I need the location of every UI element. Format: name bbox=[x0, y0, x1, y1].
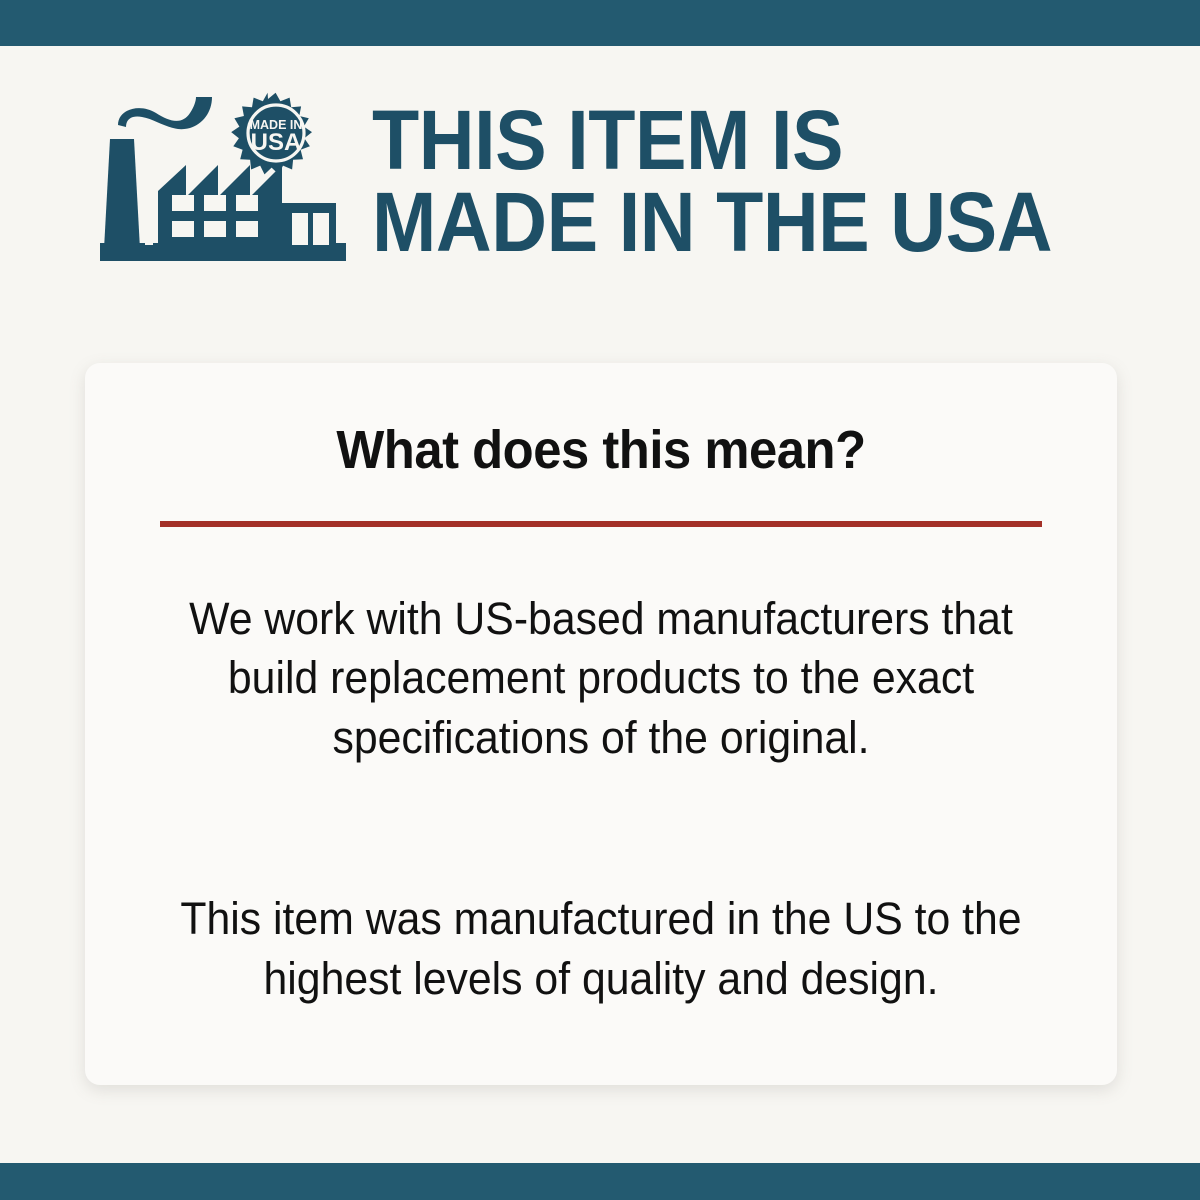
seal-line2-label: USA bbox=[251, 129, 302, 156]
header: MADE IN USA THIS ITEM IS MADE IN THE USA bbox=[0, 46, 1200, 316]
card-body: We work with US-based manufacturers that… bbox=[85, 589, 1117, 1008]
page-title: THIS ITEM IS MADE IN THE USA bbox=[372, 99, 1052, 264]
headline-line-1: THIS ITEM IS bbox=[372, 99, 1052, 181]
top-accent-band bbox=[0, 0, 1200, 46]
paragraph-quality: This item was manufactured in the US to … bbox=[177, 889, 1024, 1008]
heading-divider bbox=[160, 521, 1042, 527]
factory-icon: MADE IN USA bbox=[100, 91, 350, 271]
paragraph-manufacturers: We work with US-based manufacturers that… bbox=[177, 589, 1024, 767]
bottom-accent-band bbox=[0, 1163, 1200, 1200]
info-card: What does this mean? We work with US-bas… bbox=[85, 363, 1117, 1085]
made-in-usa-seal-icon: MADE IN USA bbox=[231, 93, 312, 175]
headline-line-2: MADE IN THE USA bbox=[372, 181, 1052, 263]
card-heading: What does this mean? bbox=[116, 363, 1086, 481]
